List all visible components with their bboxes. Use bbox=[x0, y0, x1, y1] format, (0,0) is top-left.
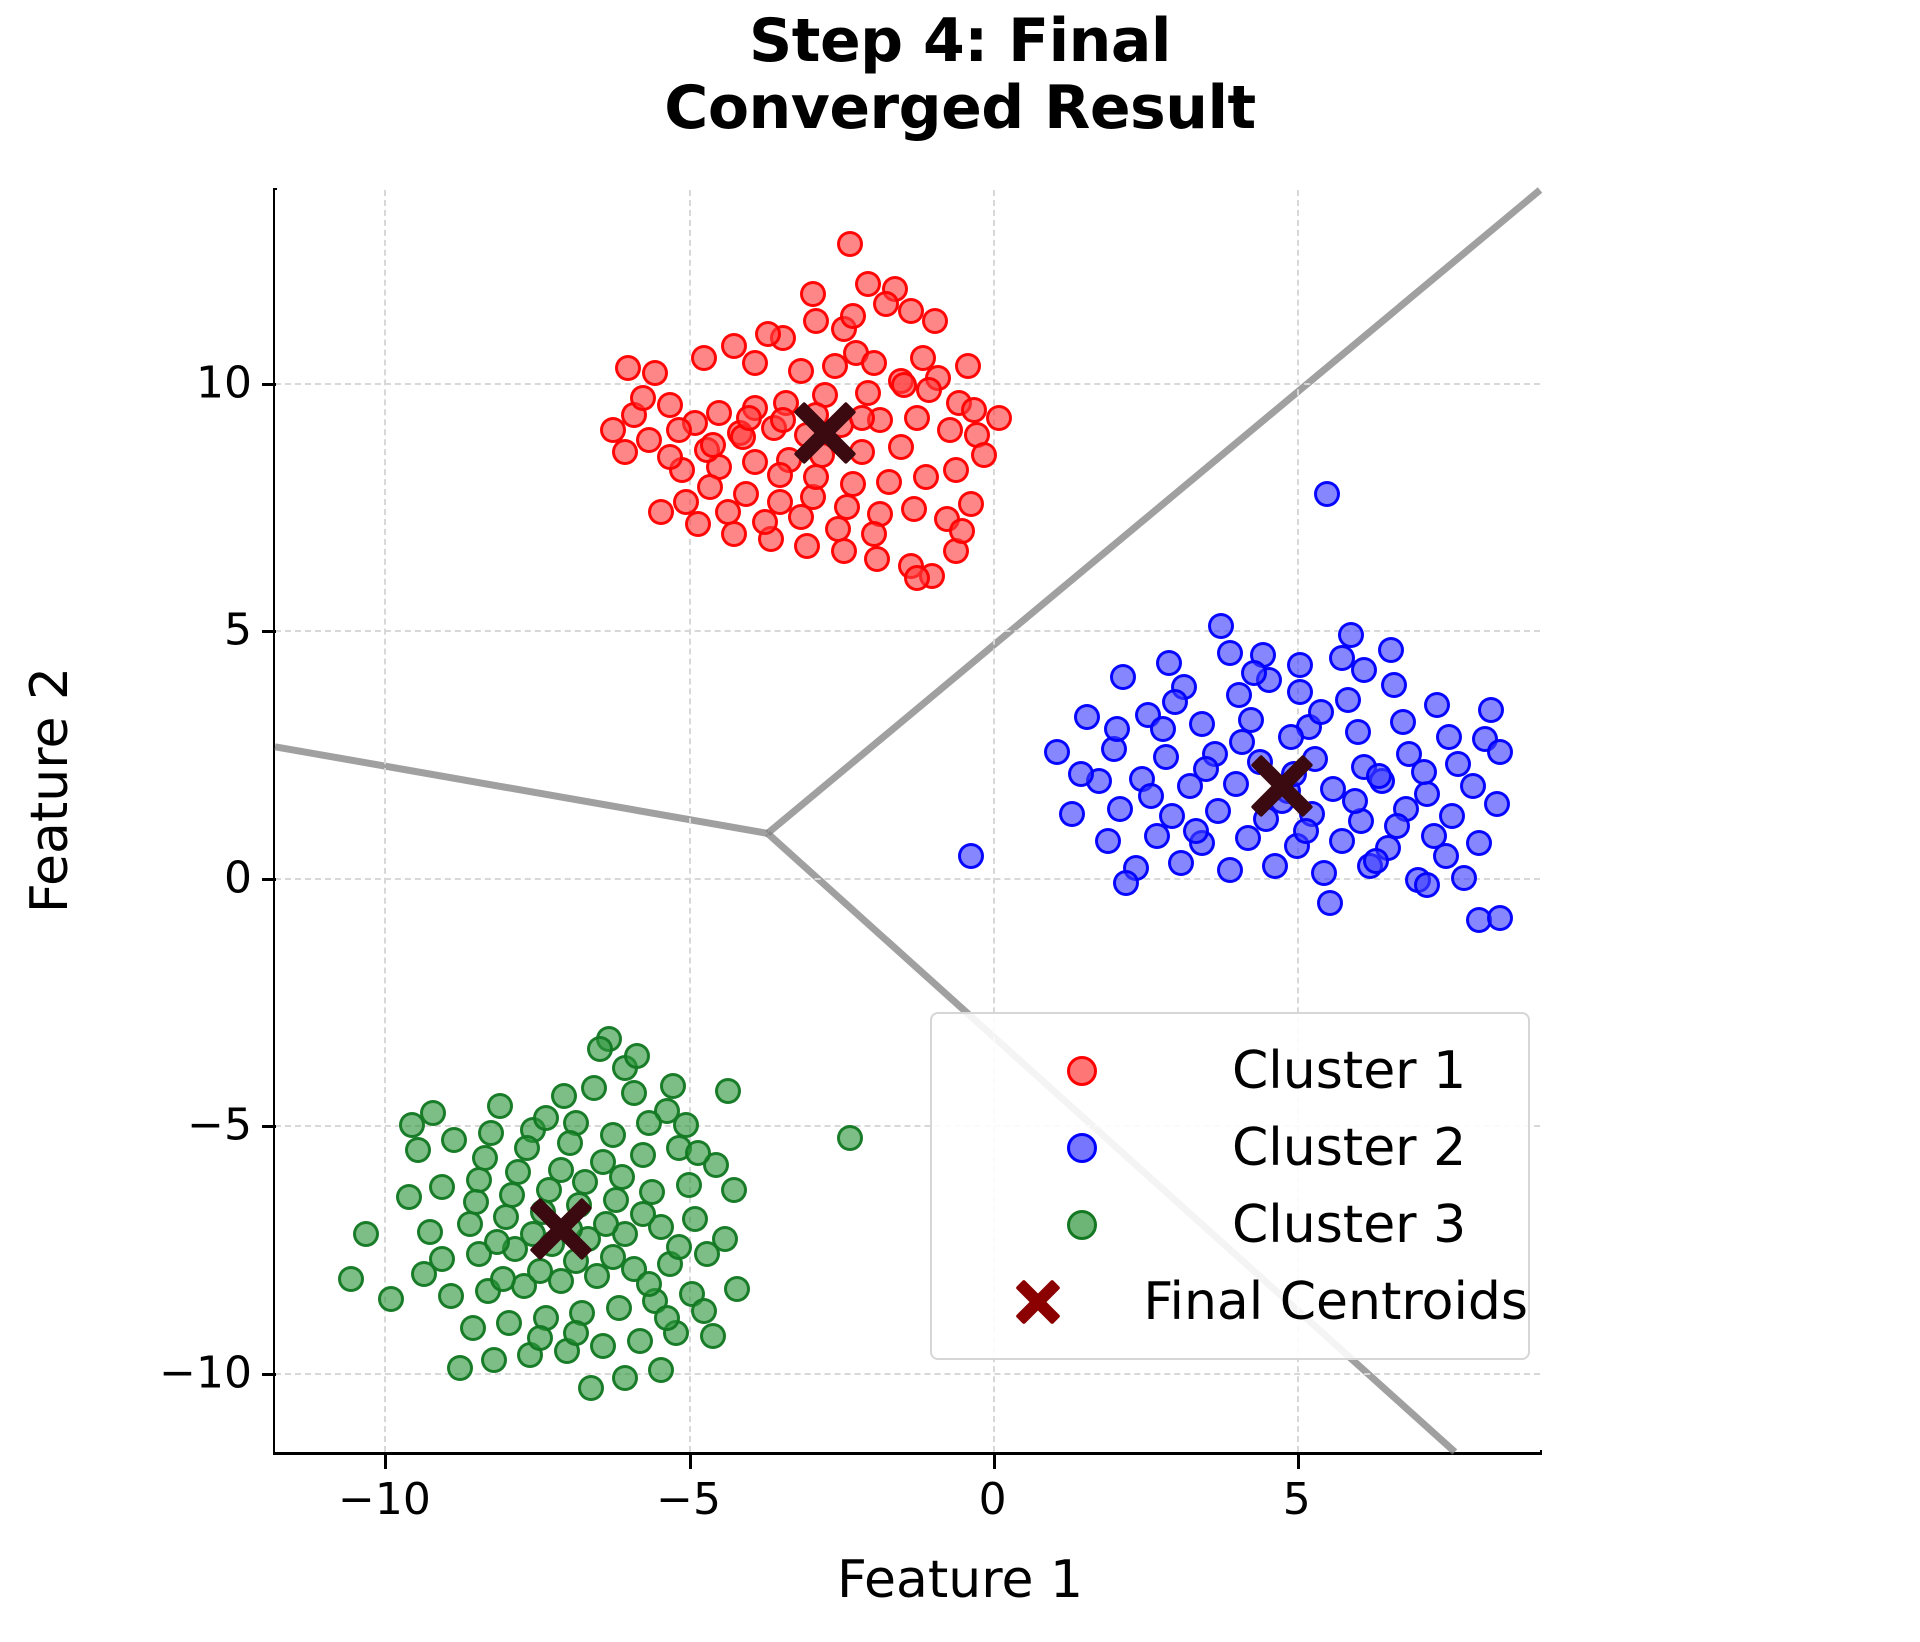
scatter-point bbox=[904, 405, 930, 431]
scatter-point bbox=[600, 1122, 626, 1148]
scatter-point bbox=[551, 1083, 577, 1109]
scatter-point bbox=[825, 516, 851, 542]
scatter-point bbox=[612, 1365, 638, 1391]
y-axis-label: Feature 2 bbox=[20, 440, 80, 1140]
scatter-point bbox=[742, 449, 768, 475]
scatter-point bbox=[1335, 687, 1361, 713]
scatter-point bbox=[691, 1298, 717, 1324]
scatter-point bbox=[958, 491, 984, 517]
scatter-point bbox=[621, 1080, 647, 1106]
scatter-point bbox=[971, 442, 997, 468]
legend-circle-icon bbox=[1067, 1133, 1097, 1163]
scatter-point bbox=[1262, 853, 1288, 879]
scatter-point bbox=[822, 353, 848, 379]
scatter-point bbox=[557, 1130, 583, 1156]
scatter-point bbox=[636, 1271, 662, 1297]
scatter-point bbox=[1317, 890, 1343, 916]
scatter-point bbox=[937, 417, 963, 443]
scatter-point bbox=[463, 1189, 489, 1215]
scatter-point bbox=[840, 471, 866, 497]
scatter-point bbox=[487, 1093, 513, 1119]
scatter-point bbox=[1189, 711, 1215, 737]
scatter-point bbox=[563, 1320, 589, 1346]
scatter-point bbox=[1487, 905, 1513, 931]
scatter-point bbox=[606, 1295, 632, 1321]
scatter-point bbox=[1342, 788, 1368, 814]
scatter-point bbox=[800, 281, 826, 307]
x-axis-tick-label: 5 bbox=[1283, 1474, 1311, 1525]
legend-label: Cluster 1 bbox=[1232, 1041, 1466, 1101]
y-axis-tick bbox=[262, 1373, 276, 1376]
scatter-point bbox=[636, 427, 662, 453]
scatter-point bbox=[873, 291, 899, 317]
scatter-point bbox=[660, 1073, 686, 1099]
legend-marker-cell bbox=[932, 1210, 1232, 1240]
scatter-point bbox=[1156, 650, 1182, 676]
scatter-point bbox=[609, 1164, 635, 1190]
gridline-horizontal bbox=[275, 878, 1540, 880]
scatter-point bbox=[1226, 682, 1252, 708]
scatter-point bbox=[490, 1266, 516, 1292]
scatter-point bbox=[666, 1234, 692, 1260]
scatter-point bbox=[533, 1105, 559, 1131]
scatter-point bbox=[1104, 716, 1130, 742]
scatter-point bbox=[861, 521, 887, 547]
scatter-point bbox=[636, 1110, 662, 1136]
scatter-point bbox=[1308, 699, 1334, 725]
scatter-point bbox=[721, 1177, 747, 1203]
scatter-point bbox=[447, 1355, 473, 1381]
scatter-point bbox=[1311, 860, 1337, 886]
scatter-point bbox=[803, 464, 829, 490]
scatter-point bbox=[587, 1036, 613, 1062]
scatter-point bbox=[736, 405, 762, 431]
scatter-point bbox=[901, 496, 927, 522]
scatter-point bbox=[1044, 739, 1070, 765]
legend-label: Cluster 3 bbox=[1232, 1195, 1466, 1255]
scatter-point bbox=[590, 1333, 616, 1359]
scatter-point bbox=[1208, 613, 1234, 639]
legend-item[interactable]: Final Centroids bbox=[932, 1263, 1528, 1340]
y-axis-tick bbox=[262, 1125, 276, 1128]
centroid-cluster-2 bbox=[1247, 751, 1317, 821]
scatter-point bbox=[1338, 622, 1364, 648]
scatter-point bbox=[831, 538, 857, 564]
scatter-point bbox=[1205, 798, 1231, 824]
scatter-point bbox=[1411, 759, 1437, 785]
y-axis-tick-label: 5 bbox=[224, 605, 252, 656]
scatter-point bbox=[572, 1169, 598, 1195]
y-axis-tick bbox=[262, 878, 276, 881]
scatter-point bbox=[1074, 704, 1100, 730]
figure-canvas: Step 4: Final Converged Result −10−505−1… bbox=[0, 0, 1920, 1642]
scatter-point bbox=[338, 1266, 364, 1292]
scatter-point bbox=[405, 1137, 431, 1163]
scatter-point bbox=[1217, 640, 1243, 666]
scatter-point bbox=[1478, 697, 1504, 723]
y-axis-tick-label: −10 bbox=[159, 1347, 252, 1398]
scatter-point bbox=[1445, 751, 1471, 777]
scatter-point bbox=[1168, 850, 1194, 876]
scatter-point bbox=[1241, 660, 1267, 686]
scatter-point bbox=[788, 358, 814, 384]
scatter-point bbox=[481, 1347, 507, 1373]
scatter-point bbox=[916, 377, 942, 403]
scatter-point bbox=[1414, 872, 1440, 898]
scatter-point bbox=[438, 1283, 464, 1309]
scatter-point bbox=[1384, 813, 1410, 839]
chart-title: Step 4: Final Converged Result bbox=[0, 8, 1920, 142]
scatter-point bbox=[1287, 652, 1313, 678]
x-axis-tick-label: −5 bbox=[656, 1474, 721, 1525]
scatter-point bbox=[657, 392, 683, 418]
scatter-point bbox=[441, 1127, 467, 1153]
scatter-point bbox=[1153, 744, 1179, 770]
scatter-point bbox=[1278, 724, 1304, 750]
scatter-point bbox=[1345, 719, 1371, 745]
x-axis-tick bbox=[689, 1455, 692, 1469]
legend-x-icon bbox=[1014, 1278, 1062, 1326]
scatter-point bbox=[612, 439, 638, 465]
legend-marker-cell bbox=[932, 1056, 1232, 1086]
scatter-point bbox=[429, 1174, 455, 1200]
scatter-point bbox=[1293, 818, 1319, 844]
scatter-point bbox=[1414, 781, 1440, 807]
x-axis-tick-label: −10 bbox=[338, 1474, 431, 1525]
scatter-point bbox=[961, 397, 987, 423]
scatter-point bbox=[697, 474, 723, 500]
scatter-point bbox=[1144, 823, 1170, 849]
scatter-point bbox=[958, 843, 984, 869]
scatter-point bbox=[949, 518, 975, 544]
scatter-point bbox=[721, 521, 747, 547]
scatter-point bbox=[1162, 689, 1188, 715]
scatter-point bbox=[593, 1211, 619, 1237]
legend-item[interactable]: Cluster 3 bbox=[932, 1186, 1528, 1263]
scatter-point bbox=[484, 1229, 510, 1255]
scatter-point bbox=[673, 489, 699, 515]
scatter-point bbox=[676, 1172, 702, 1198]
scatter-point bbox=[378, 1286, 404, 1312]
boundary-red-green bbox=[275, 747, 768, 834]
scatter-point bbox=[630, 385, 656, 411]
scatter-point bbox=[1150, 716, 1176, 742]
scatter-point bbox=[876, 469, 902, 495]
scatter-point bbox=[581, 1075, 607, 1101]
scatter-point bbox=[603, 1187, 629, 1213]
scatter-point bbox=[1378, 637, 1404, 663]
scatter-point bbox=[700, 1323, 726, 1349]
centroid-cluster-3 bbox=[526, 1194, 596, 1264]
scatter-point bbox=[752, 509, 778, 535]
scatter-point bbox=[1390, 709, 1416, 735]
scatter-point bbox=[1110, 664, 1136, 690]
legend-label: Cluster 2 bbox=[1232, 1118, 1466, 1178]
scatter-point bbox=[943, 457, 969, 483]
scatter-point bbox=[685, 511, 711, 537]
scatter-point bbox=[1113, 870, 1139, 896]
scatter-point bbox=[955, 353, 981, 379]
scatter-point bbox=[411, 1261, 437, 1287]
scatter-point bbox=[685, 1140, 711, 1166]
scatter-point bbox=[712, 1226, 738, 1252]
legend-marker-cell bbox=[932, 1133, 1232, 1163]
scatter-point bbox=[478, 1120, 504, 1146]
legend-label: Final Centroids bbox=[1143, 1272, 1528, 1332]
scatter-point bbox=[1217, 857, 1243, 883]
scatter-point bbox=[724, 1276, 750, 1302]
scatter-point bbox=[630, 1201, 656, 1227]
scatter-point bbox=[721, 333, 747, 359]
scatter-point bbox=[682, 1206, 708, 1232]
y-axis-tick-label: −5 bbox=[187, 1100, 252, 1151]
scatter-point bbox=[1329, 828, 1355, 854]
scatter-point bbox=[648, 1357, 674, 1383]
legend-circle-icon bbox=[1067, 1056, 1097, 1086]
scatter-point bbox=[496, 1310, 522, 1336]
x-axis-tick-label: 0 bbox=[979, 1474, 1007, 1525]
scatter-point bbox=[986, 405, 1012, 431]
scatter-point bbox=[1451, 865, 1477, 891]
scatter-point bbox=[499, 1182, 525, 1208]
scatter-point bbox=[1351, 657, 1377, 683]
scatter-point bbox=[457, 1211, 483, 1237]
scatter-point bbox=[600, 1244, 626, 1270]
y-axis-tick-label: 10 bbox=[196, 358, 252, 409]
scatter-point bbox=[1436, 724, 1462, 750]
x-axis-label: Feature 1 bbox=[0, 1550, 1920, 1610]
scatter-point bbox=[788, 504, 814, 530]
scatter-point bbox=[891, 372, 917, 398]
scatter-point bbox=[1183, 818, 1209, 844]
scatter-point bbox=[742, 350, 768, 376]
scatter-point bbox=[578, 1375, 604, 1401]
scatter-point bbox=[913, 464, 939, 490]
scatter-point bbox=[396, 1184, 422, 1210]
scatter-point bbox=[630, 1142, 656, 1168]
y-axis-tick bbox=[262, 383, 276, 386]
scatter-point bbox=[1366, 763, 1392, 789]
scatter-point bbox=[1235, 825, 1261, 851]
legend-item[interactable]: Cluster 2 bbox=[932, 1109, 1528, 1186]
scatter-point bbox=[700, 432, 726, 458]
scatter-point bbox=[1484, 791, 1510, 817]
scatter-point bbox=[1138, 783, 1164, 809]
x-axis-tick bbox=[384, 1455, 387, 1469]
scatter-point bbox=[417, 1219, 443, 1245]
scatter-point bbox=[1487, 739, 1513, 765]
scatter-point bbox=[1439, 803, 1465, 829]
scatter-point bbox=[837, 1125, 863, 1151]
scatter-point bbox=[904, 565, 930, 591]
gridline-vertical bbox=[689, 190, 691, 1452]
scatter-point bbox=[837, 231, 863, 257]
scatter-point bbox=[1059, 801, 1085, 827]
scatter-point bbox=[1363, 848, 1389, 874]
y-axis-tick-label: 0 bbox=[224, 852, 252, 903]
scatter-point bbox=[1223, 771, 1249, 797]
scatter-point bbox=[1433, 843, 1459, 869]
scatter-point bbox=[673, 1112, 699, 1138]
scatter-point bbox=[1068, 761, 1094, 787]
scatter-point bbox=[624, 1043, 650, 1069]
scatter-point bbox=[888, 434, 914, 460]
x-axis-tick bbox=[1297, 1455, 1300, 1469]
scatter-point bbox=[657, 444, 683, 470]
scatter-point bbox=[642, 360, 668, 386]
legend-circle-icon bbox=[1067, 1210, 1097, 1240]
x-axis-tick bbox=[993, 1455, 996, 1469]
scatter-point bbox=[864, 546, 890, 572]
scatter-point bbox=[514, 1135, 540, 1161]
scatter-point bbox=[1287, 679, 1313, 705]
scatter-point bbox=[1107, 796, 1133, 822]
legend-marker-cell bbox=[932, 1278, 1143, 1326]
scatter-point bbox=[715, 499, 741, 525]
scatter-point bbox=[648, 499, 674, 525]
scatter-point bbox=[755, 321, 781, 347]
scatter-point bbox=[615, 355, 641, 381]
chart-legend: Cluster 1Cluster 2Cluster 3Final Centroi… bbox=[930, 1012, 1530, 1360]
scatter-point bbox=[1095, 828, 1121, 854]
scatter-point bbox=[767, 462, 793, 488]
scatter-point bbox=[715, 1078, 741, 1104]
scatter-point bbox=[840, 303, 866, 329]
scatter-point bbox=[399, 1112, 425, 1138]
y-axis-tick bbox=[262, 630, 276, 633]
scatter-point bbox=[1460, 773, 1486, 799]
scatter-point bbox=[353, 1221, 379, 1247]
scatter-point bbox=[527, 1325, 553, 1351]
scatter-point bbox=[472, 1145, 498, 1171]
scatter-point bbox=[493, 1204, 519, 1230]
chart-title-line-2: Converged Result bbox=[0, 75, 1920, 142]
chart-title-line-1: Step 4: Final bbox=[0, 8, 1920, 75]
scatter-point bbox=[1424, 692, 1450, 718]
scatter-point bbox=[691, 345, 717, 371]
scatter-point bbox=[627, 1328, 653, 1354]
scatter-point bbox=[1193, 756, 1219, 782]
scatter-point bbox=[1466, 830, 1492, 856]
legend-item[interactable]: Cluster 1 bbox=[932, 1032, 1528, 1109]
scatter-point bbox=[1314, 481, 1340, 507]
centroid-cluster-1 bbox=[790, 398, 860, 468]
scatter-point bbox=[460, 1315, 486, 1341]
gridline-vertical bbox=[384, 190, 386, 1452]
scatter-point bbox=[898, 298, 924, 324]
scatter-point bbox=[706, 400, 732, 426]
scatter-point bbox=[861, 350, 887, 376]
scatter-point bbox=[666, 417, 692, 443]
scatter-point bbox=[654, 1305, 680, 1331]
scatter-point bbox=[794, 533, 820, 559]
scatter-point bbox=[803, 308, 829, 334]
scatter-point bbox=[922, 308, 948, 334]
scatter-point bbox=[1381, 672, 1407, 698]
